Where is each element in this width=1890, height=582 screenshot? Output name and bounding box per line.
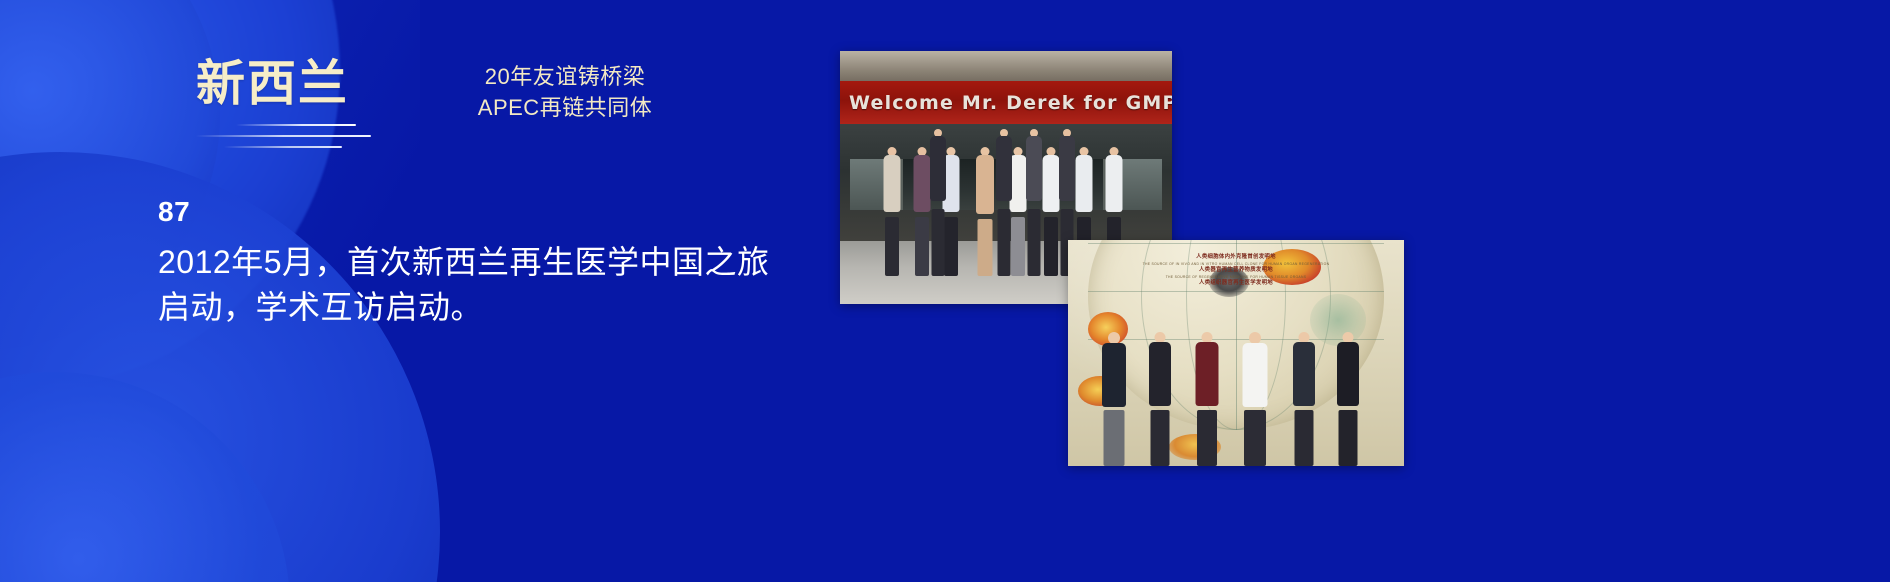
photo-person bbox=[913, 147, 930, 276]
person-legs bbox=[1244, 410, 1266, 466]
slide-title: 新西兰 bbox=[196, 57, 349, 112]
slide-number: 87 bbox=[158, 196, 190, 228]
title-block: 新西兰 bbox=[196, 57, 349, 112]
person-legs bbox=[1150, 410, 1169, 466]
photo1-banner-text: Welcome Mr. Derek for GMP In bbox=[840, 92, 1172, 114]
person-torso bbox=[1043, 155, 1060, 212]
person-torso bbox=[883, 155, 900, 212]
photo-person bbox=[883, 147, 900, 276]
person-legs bbox=[915, 217, 929, 276]
person-torso bbox=[930, 136, 946, 201]
person-torso bbox=[996, 136, 1012, 201]
photo-person bbox=[1243, 332, 1268, 467]
title-underline-rules bbox=[196, 124, 386, 157]
photo1-red-banner: Welcome Mr. Derek for GMP In bbox=[840, 81, 1172, 124]
person-legs bbox=[885, 217, 899, 276]
photo-person bbox=[1337, 332, 1359, 467]
photo-person bbox=[1026, 129, 1042, 276]
photo2-people-group bbox=[1068, 326, 1404, 466]
photo-person bbox=[1102, 332, 1126, 467]
person-torso bbox=[1106, 155, 1123, 212]
subtitle-line-2: APEC再链共同体 bbox=[440, 92, 690, 123]
person-legs bbox=[1338, 410, 1357, 466]
person-legs bbox=[1197, 410, 1217, 466]
person-torso bbox=[1337, 342, 1359, 407]
person-torso bbox=[1076, 155, 1093, 212]
person-torso bbox=[976, 155, 994, 214]
rule-line-1 bbox=[236, 124, 356, 126]
person-torso bbox=[913, 155, 930, 212]
photo-person bbox=[1293, 332, 1315, 467]
photo-person bbox=[1043, 147, 1060, 276]
rule-line-2 bbox=[196, 135, 371, 137]
person-torso bbox=[1293, 342, 1315, 407]
left-content-column: 新西兰 20年友谊铸桥梁 APEC再链共同体 87 2012年5月，首次新西兰再… bbox=[0, 0, 830, 582]
person-torso bbox=[1149, 342, 1171, 407]
person-torso bbox=[1196, 342, 1219, 407]
person-legs bbox=[944, 217, 958, 276]
photo2-sign-sub-1: THE SOURCE OF IN VIVO AND IN VITRO HUMAN… bbox=[1143, 262, 1330, 266]
photo2-sign-line-1: 人类细胞体内外克隆首创发明地 bbox=[1196, 254, 1276, 261]
slide-root: 新西兰 20年友谊铸桥梁 APEC再链共同体 87 2012年5月，首次新西兰再… bbox=[0, 0, 1890, 582]
person-torso bbox=[1243, 343, 1268, 408]
slide-subtitle: 20年友谊铸桥梁 APEC再链共同体 bbox=[440, 61, 690, 123]
rule-line-3 bbox=[224, 146, 342, 148]
photo-person bbox=[976, 147, 994, 276]
person-torso bbox=[1102, 343, 1126, 408]
person-legs bbox=[1027, 209, 1040, 276]
photo-area: Welcome Mr. Derek for GMP In bbox=[830, 0, 1890, 582]
person-torso bbox=[1026, 136, 1042, 201]
photo-person bbox=[930, 129, 946, 276]
photo2-sign-line-3: 人类组织器官再生医学发明地 bbox=[1199, 280, 1273, 287]
photo-person bbox=[996, 129, 1012, 276]
person-legs bbox=[998, 209, 1011, 276]
person-legs bbox=[1011, 217, 1025, 276]
photo2-sign: 人类细胞体内外克隆首创发明地 THE SOURCE OF IN VIVO AND… bbox=[1139, 249, 1334, 292]
person-legs bbox=[1103, 410, 1124, 466]
person-legs bbox=[1044, 217, 1058, 276]
photo-person bbox=[1196, 332, 1219, 467]
body-text: 2012年5月，首次新西兰再生医学中国之旅启动，学术互访启动。 bbox=[158, 240, 798, 331]
person-legs bbox=[931, 209, 944, 276]
person-legs bbox=[1295, 410, 1314, 466]
mural-group-photo: 人类细胞体内外克隆首创发明地 THE SOURCE OF IN VIVO AND… bbox=[1068, 240, 1404, 466]
person-legs bbox=[978, 219, 993, 276]
photo-person bbox=[1149, 332, 1171, 467]
subtitle-line-1: 20年友谊铸桥梁 bbox=[440, 61, 690, 92]
photo2-sign-line-2: 人类器官再生营养物质发明地 bbox=[1199, 267, 1273, 274]
person-torso bbox=[1059, 136, 1075, 201]
photo2-sign-sub-2: THE SOURCE OF REGENERATIVE MEDICINE FOR … bbox=[1166, 275, 1307, 279]
